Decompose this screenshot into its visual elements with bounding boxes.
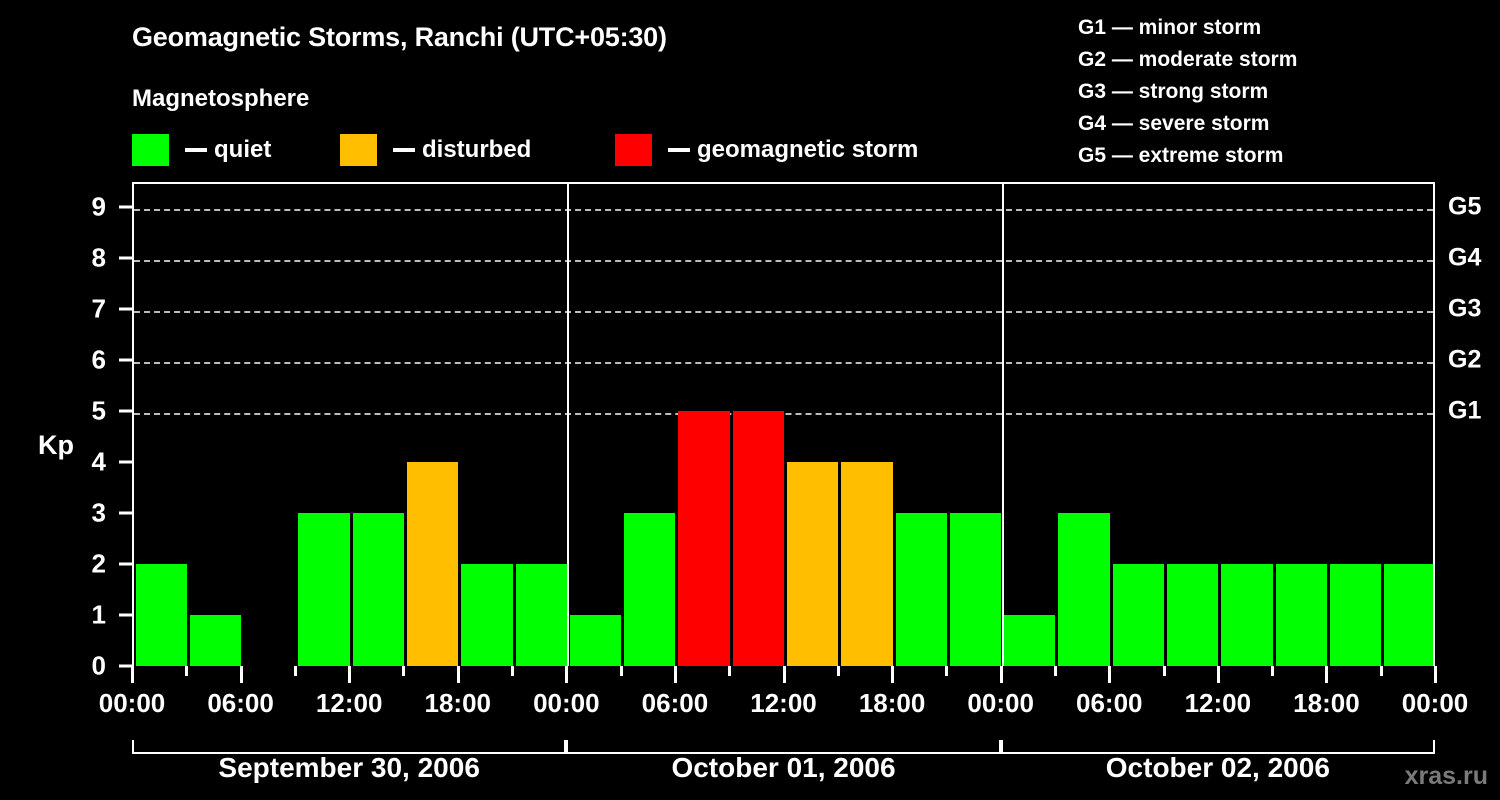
legend-label-quiet: quiet: [214, 136, 271, 164]
legend-dash-icon: [668, 148, 690, 152]
g-scale-row-5: G5 — extreme storm: [1078, 140, 1297, 172]
y-tick-mark-5: [119, 410, 132, 413]
bar[interactable]: [1113, 564, 1164, 666]
g-scale-row-4: G4 — severe storm: [1078, 108, 1297, 140]
x-tick-mark-4: [565, 666, 568, 683]
y-tick-mark-9: [119, 206, 132, 209]
x-tick-label-4: 00:00: [533, 688, 600, 719]
y-tick-mark-7: [119, 308, 132, 311]
legend-dash-icon: [185, 148, 207, 152]
day-separator-2: [1002, 184, 1004, 666]
bar[interactable]: [136, 564, 187, 666]
gridline-kp-6: [134, 362, 1433, 364]
y-tick-label-2: 2: [62, 549, 106, 580]
g-scale-legend: G1 — minor stormG2 — moderate stormG3 — …: [1078, 12, 1297, 172]
x-tick-minor-10: [1271, 666, 1274, 676]
y-tick-label-1: 1: [62, 600, 106, 631]
bar[interactable]: [733, 411, 784, 666]
bar[interactable]: [353, 513, 404, 666]
watermark: xras.ru: [1405, 762, 1488, 791]
x-tick-minor-5: [728, 666, 731, 676]
x-tick-mark-11: [1325, 666, 1328, 683]
x-tick-minor-0: [185, 666, 188, 676]
legend-dash-icon: [393, 148, 415, 152]
y-tick-label-3: 3: [62, 498, 106, 529]
bar[interactable]: [1221, 564, 1272, 666]
y-tick-label-8: 8: [62, 243, 106, 274]
x-tick-label-9: 06:00: [1076, 688, 1143, 719]
bar[interactable]: [516, 564, 567, 666]
y-tick-mark-3: [119, 512, 132, 515]
x-tick-mark-1: [240, 666, 243, 683]
x-tick-mark-5: [674, 666, 677, 683]
bar[interactable]: [1384, 564, 1433, 666]
x-tick-label-8: 00:00: [967, 688, 1034, 719]
x-tick-label-1: 06:00: [207, 688, 274, 719]
x-tick-minor-9: [1163, 666, 1166, 676]
gridline-kp-7: [134, 311, 1433, 313]
x-tick-label-7: 18:00: [859, 688, 926, 719]
x-tick-label-11: 18:00: [1293, 688, 1360, 719]
x-tick-mark-0: [131, 666, 134, 683]
g-scale-row-1: G1 — minor storm: [1078, 12, 1297, 44]
x-tick-mark-3: [457, 666, 460, 683]
legend-swatch-disturbed: [340, 134, 377, 166]
legend-label-disturbed: disturbed: [422, 136, 531, 164]
x-tick-minor-4: [620, 666, 623, 676]
bar[interactable]: [787, 462, 838, 666]
x-tick-mark-10: [1217, 666, 1220, 683]
legend-item-quiet: quiet: [132, 133, 271, 167]
y-tick-label-9: 9: [62, 192, 106, 223]
y-tick-mark-6: [119, 359, 132, 362]
y-tick-label-4: 4: [62, 447, 106, 478]
x-tick-minor-1: [294, 666, 297, 676]
day-label-2: October 01, 2006: [671, 752, 895, 784]
bar[interactable]: [298, 513, 349, 666]
bar[interactable]: [1330, 564, 1381, 666]
bar[interactable]: [950, 513, 1001, 666]
x-tick-label-12: 00:00: [1402, 688, 1469, 719]
plot-area: [132, 182, 1435, 666]
x-tick-minor-8: [1054, 666, 1057, 676]
y-tick-mark-2: [119, 563, 132, 566]
x-tick-mark-7: [891, 666, 894, 683]
x-tick-minor-6: [837, 666, 840, 676]
x-tick-mark-2: [348, 666, 351, 683]
chart-subtitle: Magnetosphere: [132, 85, 309, 113]
y-tick-mark-4: [119, 461, 132, 464]
chart-canvas: Geomagnetic Storms, Ranchi (UTC+05:30) M…: [0, 0, 1500, 800]
bar[interactable]: [570, 615, 621, 666]
bar[interactable]: [190, 615, 241, 666]
g-tick-label-G4: G4: [1448, 244, 1481, 273]
g-scale-row-3: G3 — strong storm: [1078, 76, 1297, 108]
bar[interactable]: [1167, 564, 1218, 666]
bar[interactable]: [896, 513, 947, 666]
y-tick-mark-1: [119, 614, 132, 617]
x-tick-minor-2: [402, 666, 405, 676]
x-tick-mark-8: [1000, 666, 1003, 683]
bar[interactable]: [461, 564, 512, 666]
bar[interactable]: [1276, 564, 1327, 666]
x-tick-minor-11: [1380, 666, 1383, 676]
y-tick-label-5: 5: [62, 396, 106, 427]
x-tick-mark-9: [1108, 666, 1111, 683]
page-title: Geomagnetic Storms, Ranchi (UTC+05:30): [132, 22, 667, 53]
x-tick-label-5: 06:00: [642, 688, 709, 719]
x-tick-label-3: 18:00: [425, 688, 492, 719]
x-tick-mark-6: [783, 666, 786, 683]
legend-swatch-geomagnetic-storm: [615, 134, 652, 166]
legend-item-disturbed: disturbed: [340, 133, 531, 167]
day-label-3: October 02, 2006: [1106, 752, 1330, 784]
y-tick-label-6: 6: [62, 345, 106, 376]
bar[interactable]: [1004, 615, 1055, 666]
bar[interactable]: [624, 513, 675, 666]
gridline-kp-9: [134, 209, 1433, 211]
g-tick-label-G3: G3: [1448, 295, 1481, 324]
g-tick-label-G5: G5: [1448, 193, 1481, 222]
y-tick-mark-8: [119, 257, 132, 260]
x-tick-minor-7: [945, 666, 948, 676]
plot-inner: [134, 184, 1433, 666]
x-tick-minor-3: [511, 666, 514, 676]
gridline-kp-8: [134, 260, 1433, 262]
legend-label-geomagnetic-storm: geomagnetic storm: [697, 136, 918, 164]
bar[interactable]: [1058, 513, 1109, 666]
x-tick-label-6: 12:00: [750, 688, 817, 719]
bar[interactable]: [678, 411, 729, 666]
day-label-1: September 30, 2006: [218, 752, 480, 784]
g-scale-row-2: G2 — moderate storm: [1078, 44, 1297, 76]
bar[interactable]: [841, 462, 892, 666]
bar[interactable]: [407, 462, 458, 666]
legend-item-geomagnetic-storm: geomagnetic storm: [615, 133, 918, 167]
legend-swatch-quiet: [132, 134, 169, 166]
x-tick-mark-12: [1434, 666, 1437, 683]
y-tick-label-7: 7: [62, 294, 106, 325]
x-tick-label-10: 12:00: [1185, 688, 1252, 719]
y-tick-label-0: 0: [62, 651, 106, 682]
x-tick-label-0: 00:00: [99, 688, 166, 719]
day-separator-1: [567, 184, 569, 666]
x-tick-label-2: 12:00: [316, 688, 383, 719]
g-tick-label-G1: G1: [1448, 397, 1481, 426]
g-tick-label-G2: G2: [1448, 346, 1481, 375]
